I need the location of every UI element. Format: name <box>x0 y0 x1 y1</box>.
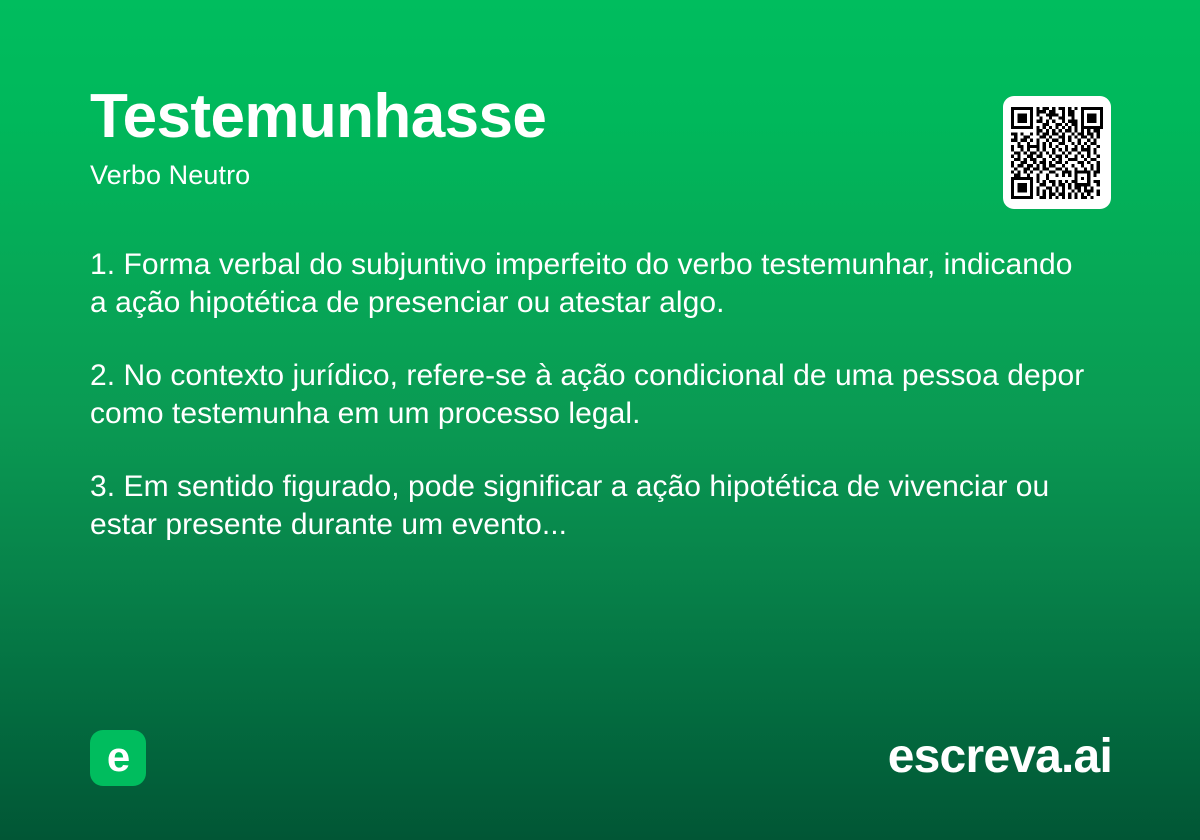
qr-code-container[interactable] <box>1003 96 1111 209</box>
word-class-label: Verbo Neutro <box>90 161 1110 191</box>
definition-item: 3. Em sentido figurado, pode significar … <box>90 468 1085 545</box>
definition-item: 1. Forma verbal do subjuntivo imperfeito… <box>90 246 1085 323</box>
qr-code-icon <box>1011 107 1103 199</box>
brand-wordmark: escreva.ai <box>888 728 1112 786</box>
definition-item: 2. No contexto jurídico, refere-se à açã… <box>90 357 1085 434</box>
word-definition-card: Testemunhasse Verbo Neutro <box>0 0 1200 840</box>
escreva-logo-badge: e <box>90 730 146 786</box>
logo-letter-e: e <box>107 736 129 778</box>
card-header: Testemunhasse Verbo Neutro <box>90 84 1110 191</box>
card-footer: e escreva.ai <box>90 730 1112 788</box>
definition-list: 1. Forma verbal do subjuntivo imperfeito… <box>90 246 1090 544</box>
page-title: Testemunhasse <box>90 84 1110 149</box>
